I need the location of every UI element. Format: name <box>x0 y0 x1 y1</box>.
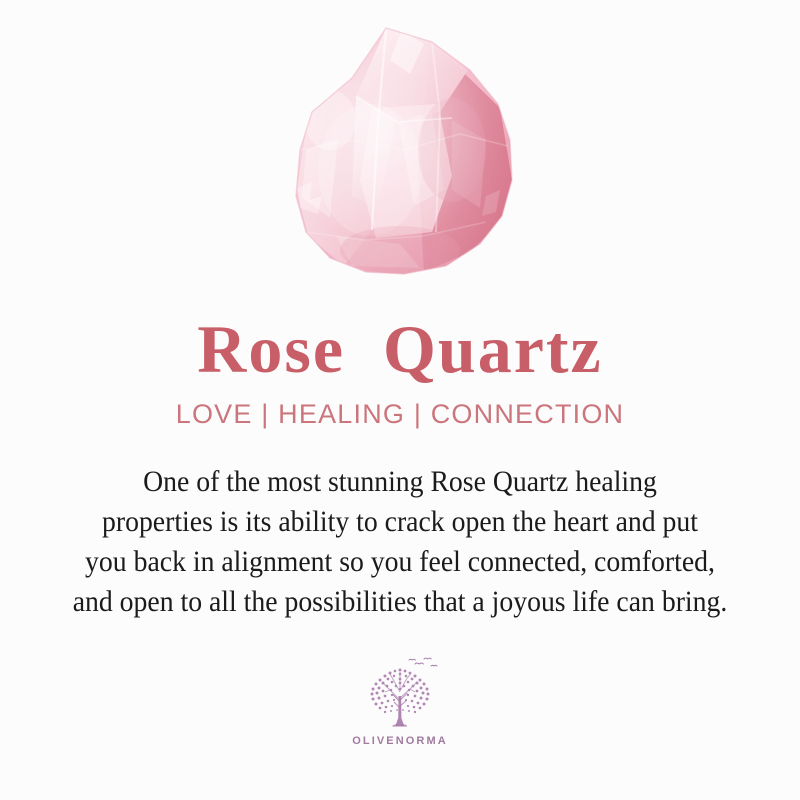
keyword-tagline: LOVE | HEALING | CONNECTION <box>176 388 625 440</box>
olive-tree-icon <box>354 656 446 732</box>
description-line: properties is its ability to crack open … <box>52 502 748 542</box>
description-text: One of the most stunning Rose Quartz hea… <box>52 440 748 622</box>
page-title: Rose Quartz <box>197 310 602 388</box>
brand-logo: OLIVENORMA <box>352 656 448 747</box>
product-image-area <box>0 0 800 310</box>
poster-canvas: Rose Quartz LOVE | HEALING | CONNECTION … <box>0 0 800 800</box>
description-line: and open to all the possibilities that a… <box>52 582 748 622</box>
description-line: you back in alignment so you feel connec… <box>52 542 748 582</box>
rose-quartz-crystal-icon <box>0 0 800 310</box>
description-line: One of the most stunning Rose Quartz hea… <box>52 462 748 502</box>
brand-wordmark: OLIVENORMA <box>352 735 448 747</box>
